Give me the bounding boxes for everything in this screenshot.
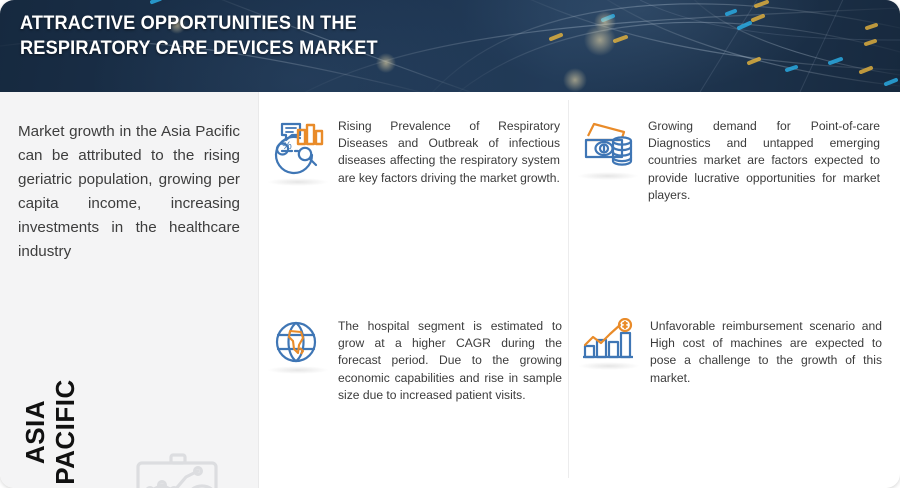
- presentation-chart-magnifier-icon: [126, 447, 234, 488]
- insight-cell-3-icon-wrap: [270, 318, 326, 377]
- left-panel: Market growth in the Asia Pacific can be…: [0, 92, 258, 488]
- page-title-line-2: RESPIRATORY CARE DEVICES MARKET: [20, 36, 541, 61]
- icon-shadow: [267, 178, 329, 186]
- page-title-line-1: ATTRACTIVE OPPORTUNITIES IN THE: [20, 11, 541, 36]
- header-banner: ATTRACTIVE OPPORTUNITIES IN THE RESPIRAT…: [0, 0, 900, 92]
- panel-divider-vertical: [258, 92, 259, 488]
- insight-cell-3-text: The hospital segment is estimated to gro…: [338, 318, 562, 404]
- insight-cell-1-icon-wrap: %: [270, 118, 326, 181]
- insight-cell-2: Growing demand for Point-of-care Diagnos…: [580, 118, 885, 204]
- insight-cell-1: % Rising Prevalence of Respiratory Disea…: [270, 118, 560, 187]
- bar-chart-growth-dollar-icon: [580, 318, 638, 368]
- insight-cell-3: The hospital segment is estimated to gro…: [270, 318, 562, 404]
- insight-cell-2-icon-wrap: [580, 118, 636, 181]
- column-divider-vertical: [568, 100, 569, 478]
- insight-cell-2-text: Growing demand for Point-of-care Diagnos…: [648, 118, 880, 204]
- money-coins-icon: [580, 118, 636, 176]
- icon-shadow: [578, 362, 640, 370]
- svg-text:%: %: [282, 140, 292, 152]
- pie-percent-analytics-icon: %: [270, 118, 326, 176]
- region-label-wrapper: ASIA PACIFIC: [8, 350, 118, 480]
- icon-shadow: [577, 172, 639, 180]
- insight-cell-1-text: Rising Prevalence of Respiratory Disease…: [338, 118, 560, 187]
- region-label: ASIA PACIFIC: [20, 362, 80, 488]
- insight-cell-4-icon-wrap: [580, 318, 638, 373]
- infographic-card: ATTRACTIVE OPPORTUNITIES IN THE RESPIRAT…: [0, 0, 900, 488]
- globe-icon: [270, 318, 326, 372]
- left-panel-paragraph: Market growth in the Asia Pacific can be…: [18, 120, 240, 264]
- insight-cell-4-text: Unfavorable reimbursement scenario and H…: [650, 318, 882, 387]
- insight-cell-4: Unfavorable reimbursement scenario and H…: [580, 318, 885, 387]
- page-title: ATTRACTIVE OPPORTUNITIES IN THE RESPIRAT…: [20, 11, 541, 61]
- icon-shadow: [267, 366, 329, 374]
